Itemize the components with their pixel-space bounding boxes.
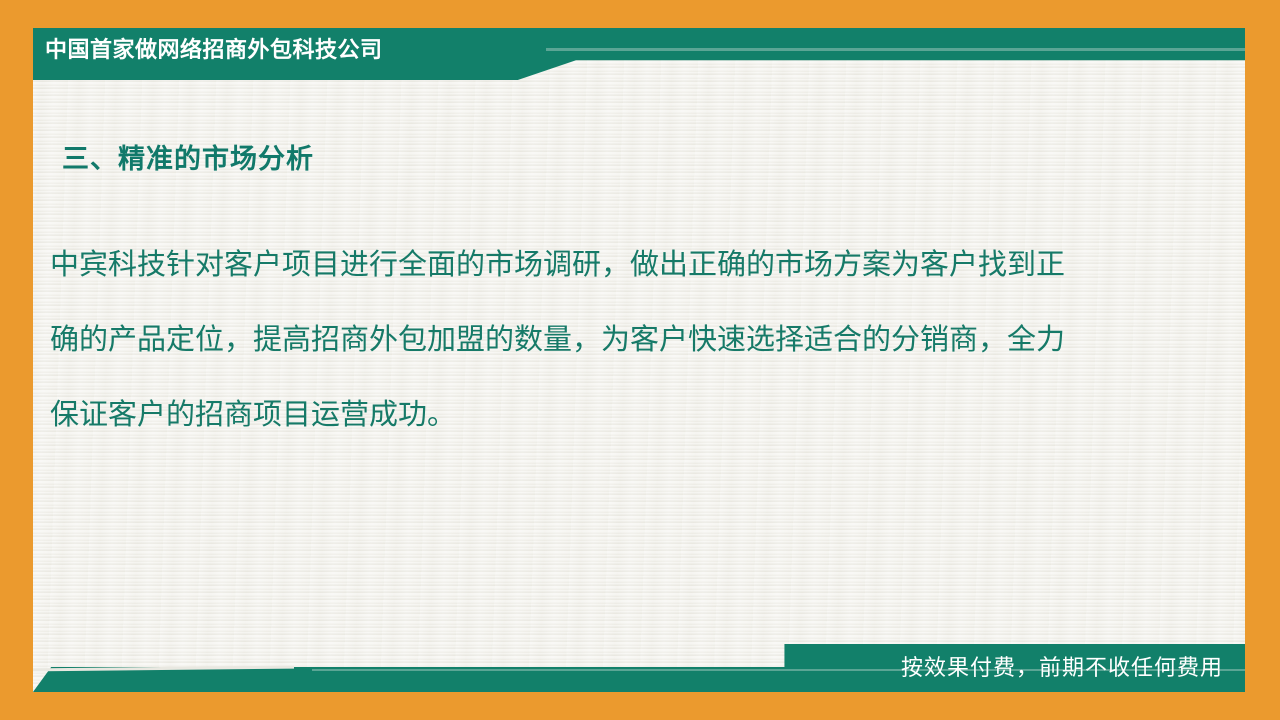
- frame-border-left: [0, 0, 33, 720]
- section-heading: 三、精准的市场分析: [62, 137, 314, 176]
- body-line: 确的产品定位，提高招商外包加盟的数量，为客户快速选择适合的分销商，全力: [50, 303, 1180, 378]
- header-title: 中国首家做网络招商外包科技公司: [45, 28, 383, 72]
- slide-header: 中国首家做网络招商外包科技公司: [33, 28, 1245, 80]
- body-paragraph: 中宾科技针对客户项目进行全面的市场调研，做出正确的市场方案为客户找到正 确的产品…: [50, 228, 1180, 453]
- frame-border-bottom: [0, 692, 1280, 720]
- slide-footer: 按效果付费，前期不收任何费用: [33, 624, 1245, 692]
- body-line: 保证客户的招商项目运营成功。: [50, 378, 1180, 453]
- body-line: 中宾科技针对客户项目进行全面的市场调研，做出正确的市场方案为客户找到正: [50, 228, 1180, 303]
- header-hairline: [546, 48, 1245, 51]
- footer-tagline: 按效果付费，前期不收任何费用: [901, 648, 1223, 688]
- frame-border-right: [1245, 0, 1280, 720]
- frame-border-top: [0, 0, 1280, 28]
- slide: 中国首家做网络招商外包科技公司 三、精准的市场分析 中宾科技针对客户项目进行全面…: [0, 0, 1280, 720]
